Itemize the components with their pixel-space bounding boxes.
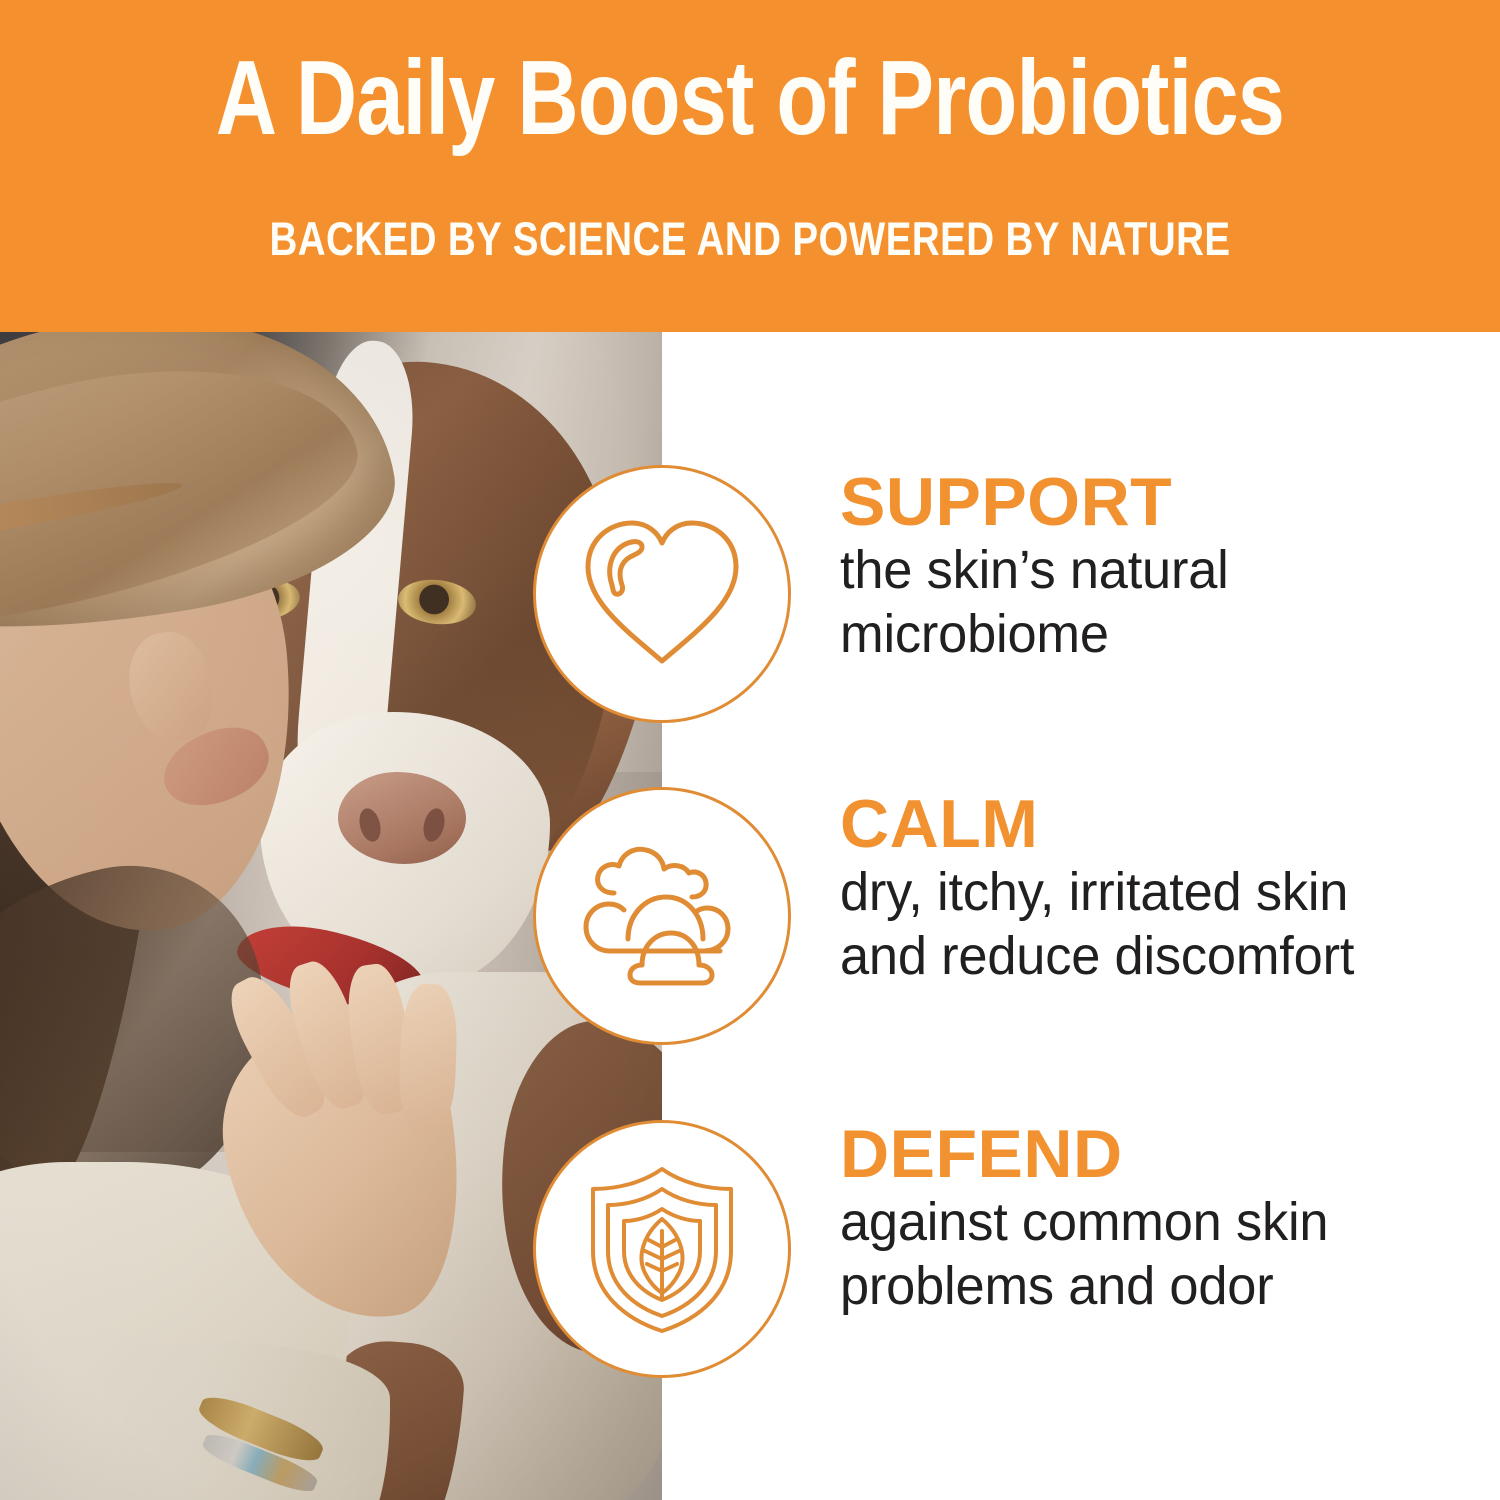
benefit-title-defend: DEFEND <box>840 1118 1343 1190</box>
benefit-body-defend: against common skin problems and odor <box>840 1190 1328 1318</box>
heart-icon <box>533 465 791 723</box>
woman-sweater-lower <box>0 1342 390 1500</box>
benefit-body-line: the skin’s natural <box>840 538 1229 602</box>
benefit-text-calm: CALM dry, itchy, irritated skin and redu… <box>840 788 1370 988</box>
benefit-body-calm: dry, itchy, irritated skin and reduce di… <box>840 860 1354 988</box>
benefit-body-line: dry, itchy, irritated skin <box>840 860 1354 924</box>
clouds-icon <box>533 787 791 1045</box>
benefit-title-calm: CALM <box>840 788 1370 860</box>
benefit-body-line: microbiome <box>840 602 1229 666</box>
benefit-body-line: and reduce discomfort <box>840 924 1354 988</box>
header-banner: A Daily Boost of Probiotics BACKED BY SC… <box>0 0 1500 332</box>
page-subtitle: BACKED BY SCIENCE AND POWERED BY NATURE <box>135 213 1365 265</box>
benefit-text-defend: DEFEND against common skin problems and … <box>840 1118 1343 1318</box>
shield-leaf-icon <box>533 1120 791 1378</box>
promo-infographic: A Daily Boost of Probiotics BACKED BY SC… <box>0 0 1500 1500</box>
benefit-title-support: SUPPORT <box>840 466 1241 538</box>
benefit-text-support: SUPPORT the skin’s natural microbiome <box>840 466 1241 666</box>
dog-nose <box>338 772 466 864</box>
benefit-body-support: the skin’s natural microbiome <box>840 538 1229 666</box>
benefit-body-line: against common skin <box>840 1190 1328 1254</box>
page-title: A Daily Boost of Probiotics <box>150 42 1350 154</box>
benefit-body-line: problems and odor <box>840 1254 1328 1318</box>
